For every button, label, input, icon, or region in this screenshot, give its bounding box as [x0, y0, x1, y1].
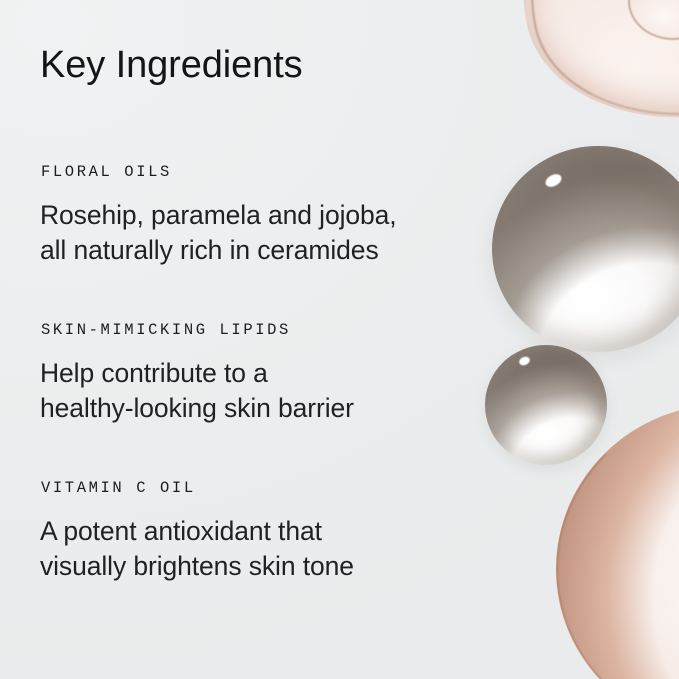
page-title: Key Ingredients — [40, 44, 679, 88]
ingredient-label: SKIN-MIMICKING LIPIDS — [41, 322, 679, 339]
ingredient-description-line: all naturally rich in ceramides — [40, 233, 510, 268]
ingredient-description-line: Help contribute to a — [40, 356, 510, 391]
ingredient-item-skin-mimicking-lipids: SKIN-MIMICKING LIPIDS Help contribute to… — [40, 322, 679, 426]
content-column: Key Ingredients FLORAL OILS Rosehip, par… — [0, 0, 679, 584]
ingredient-description: Rosehip, paramela and jojoba, all natura… — [40, 198, 510, 268]
ingredient-list: FLORAL OILS Rosehip, paramela and jojoba… — [40, 164, 679, 584]
ingredient-description-line: visually brightens skin tone — [40, 549, 510, 584]
ingredient-description: A potent antioxidant that visually brigh… — [40, 514, 510, 584]
ingredient-description-line: Rosehip, paramela and jojoba, — [40, 198, 510, 233]
ingredient-description: Help contribute to a healthy-looking ski… — [40, 356, 510, 426]
ingredient-item-vitamin-c-oil: VITAMIN C OIL A potent antioxidant that … — [40, 480, 679, 584]
ingredient-description-line: A potent antioxidant that — [40, 514, 510, 549]
ingredient-label: FLORAL OILS — [41, 164, 679, 181]
ingredient-description-line: healthy-looking skin barrier — [40, 391, 510, 426]
ingredient-label: VITAMIN C OIL — [41, 480, 679, 497]
key-ingredients-card: Key Ingredients FLORAL OILS Rosehip, par… — [0, 0, 679, 679]
ingredient-item-floral-oils: FLORAL OILS Rosehip, paramela and jojoba… — [40, 164, 679, 268]
